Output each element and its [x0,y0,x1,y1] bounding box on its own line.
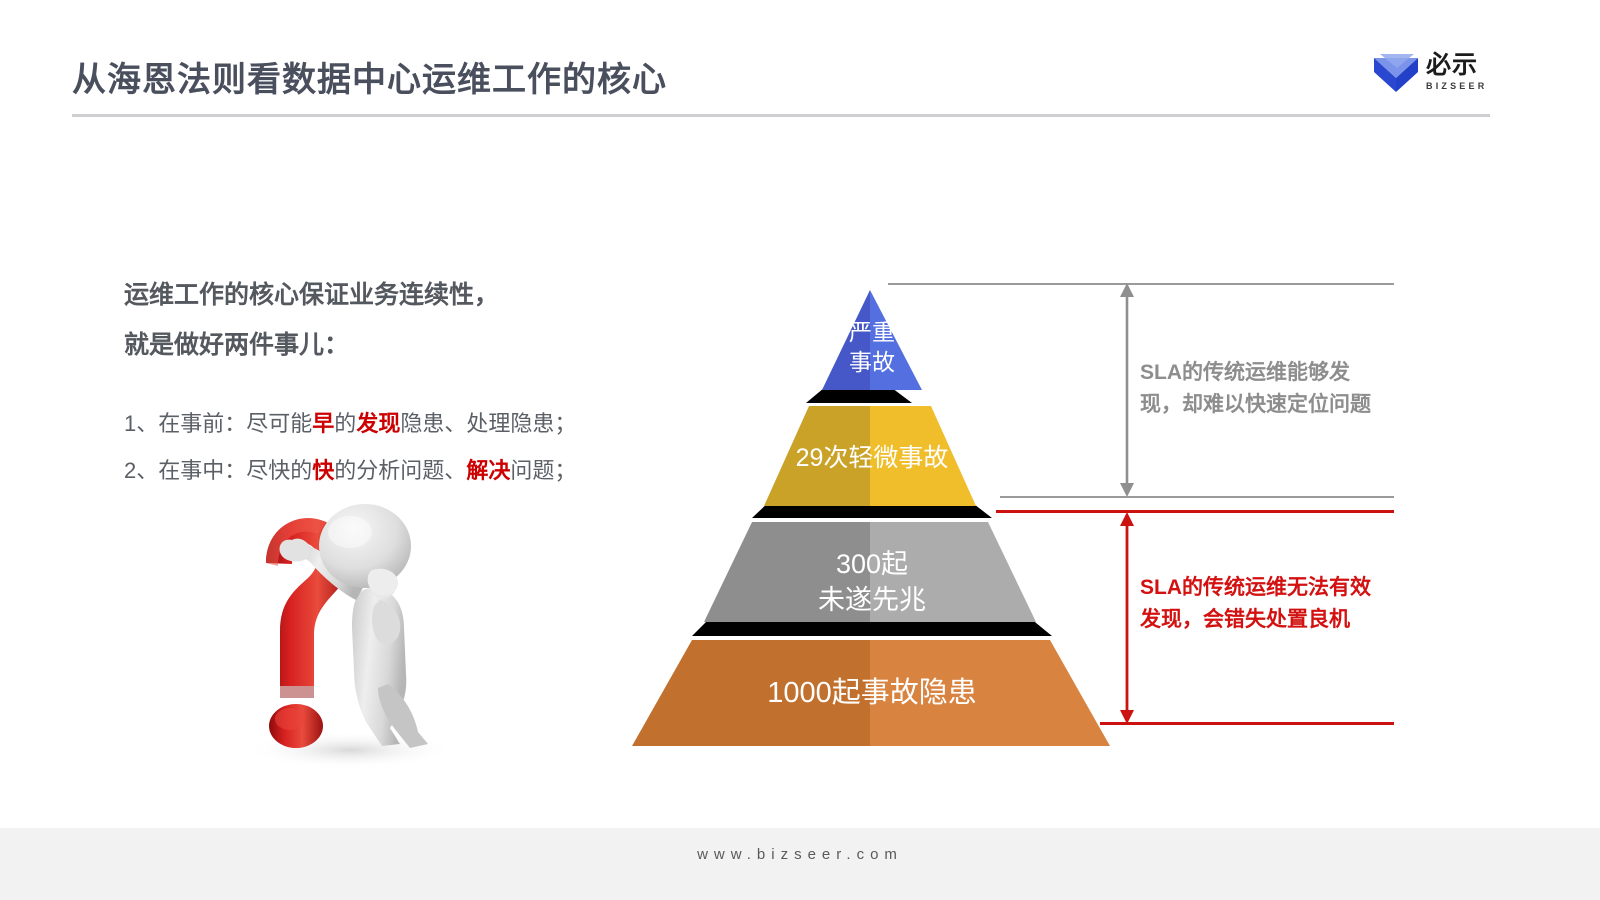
list-item-text: 隐患、处理隐患； [400,411,576,436]
list-item-text: 问题； [510,458,576,483]
list-item-emphasis: 解决 [466,458,510,483]
pyramid-level-near-misses: 300起 未遂先兆 [704,522,1036,622]
slide-canvas: 从海恩法则看数据中心运维工作的核心 必示 BIZSEER 运维工作的核心保证业务… [0,0,1600,900]
list-item-emphasis: 早 [312,411,334,436]
list-item-label: 在事中： [158,458,246,483]
pyramid-level-label: 未遂先兆 [818,585,926,615]
brand-logo-text: 必示 BIZSEER [1426,50,1496,96]
page-title: 从海恩法则看数据中心运维工作的核心 [72,52,667,101]
pyramid-level-label: 1000起事故隐患 [767,676,977,709]
pyramid-level-label: 严重 [849,319,895,345]
footer-website-url: www.bizseer.com [0,846,1600,863]
bizseer-chevron-logo-icon [1370,52,1422,96]
list-item-emphasis: 发现 [356,411,400,436]
pyramid-level-label: 29次轻微事故 [796,444,949,472]
pyramid-level-minor-accidents: 29次轻微事故 [764,406,976,506]
list-item-text: 尽快的 [246,458,312,483]
double-headed-vertical-arrow-icon [1113,283,1141,497]
list-item-index: 1、 [124,411,158,436]
pyramid-level-label: 事故 [849,349,895,375]
brand-name-cn: 必示 [1426,50,1496,80]
lower-bracket-top-line [996,510,1394,513]
list-item-text: 的 [334,411,356,436]
list-item-text: 尽可能 [246,411,312,436]
lower-annotation-text: SLA的传统运维无法有效发现，会错失处置良机 [1140,572,1390,636]
footer-bar [0,828,1600,900]
double-headed-vertical-arrow-icon [1113,512,1141,724]
list-item-index: 2、 [124,458,158,483]
upper-bracket-bottom-line [1000,496,1394,498]
pyramid-level-severe-accident: 严重 事故 [822,290,922,390]
list-item-label: 在事前： [158,411,246,436]
list-item-text: 的分析问题、 [334,458,466,483]
thinking-person-with-question-mark-illustration [222,488,474,773]
upper-bracket-top-line [888,283,1394,285]
brand-logo: 必示 BIZSEER [1370,50,1495,100]
upper-annotation-text: SLA的传统运维能够发现，却难以快速定位问题 [1140,357,1390,421]
pyramid-level-label: 300起 [836,549,908,579]
pyramid-shadow-1 [806,388,912,403]
list-item-emphasis: 快 [312,458,334,483]
pyramid-level-hidden-hazards: 1000起事故隐患 [632,640,1110,746]
title-divider [72,114,1490,117]
brand-name-en: BIZSEER [1426,80,1496,92]
lower-bracket-bottom-line [1100,722,1394,725]
